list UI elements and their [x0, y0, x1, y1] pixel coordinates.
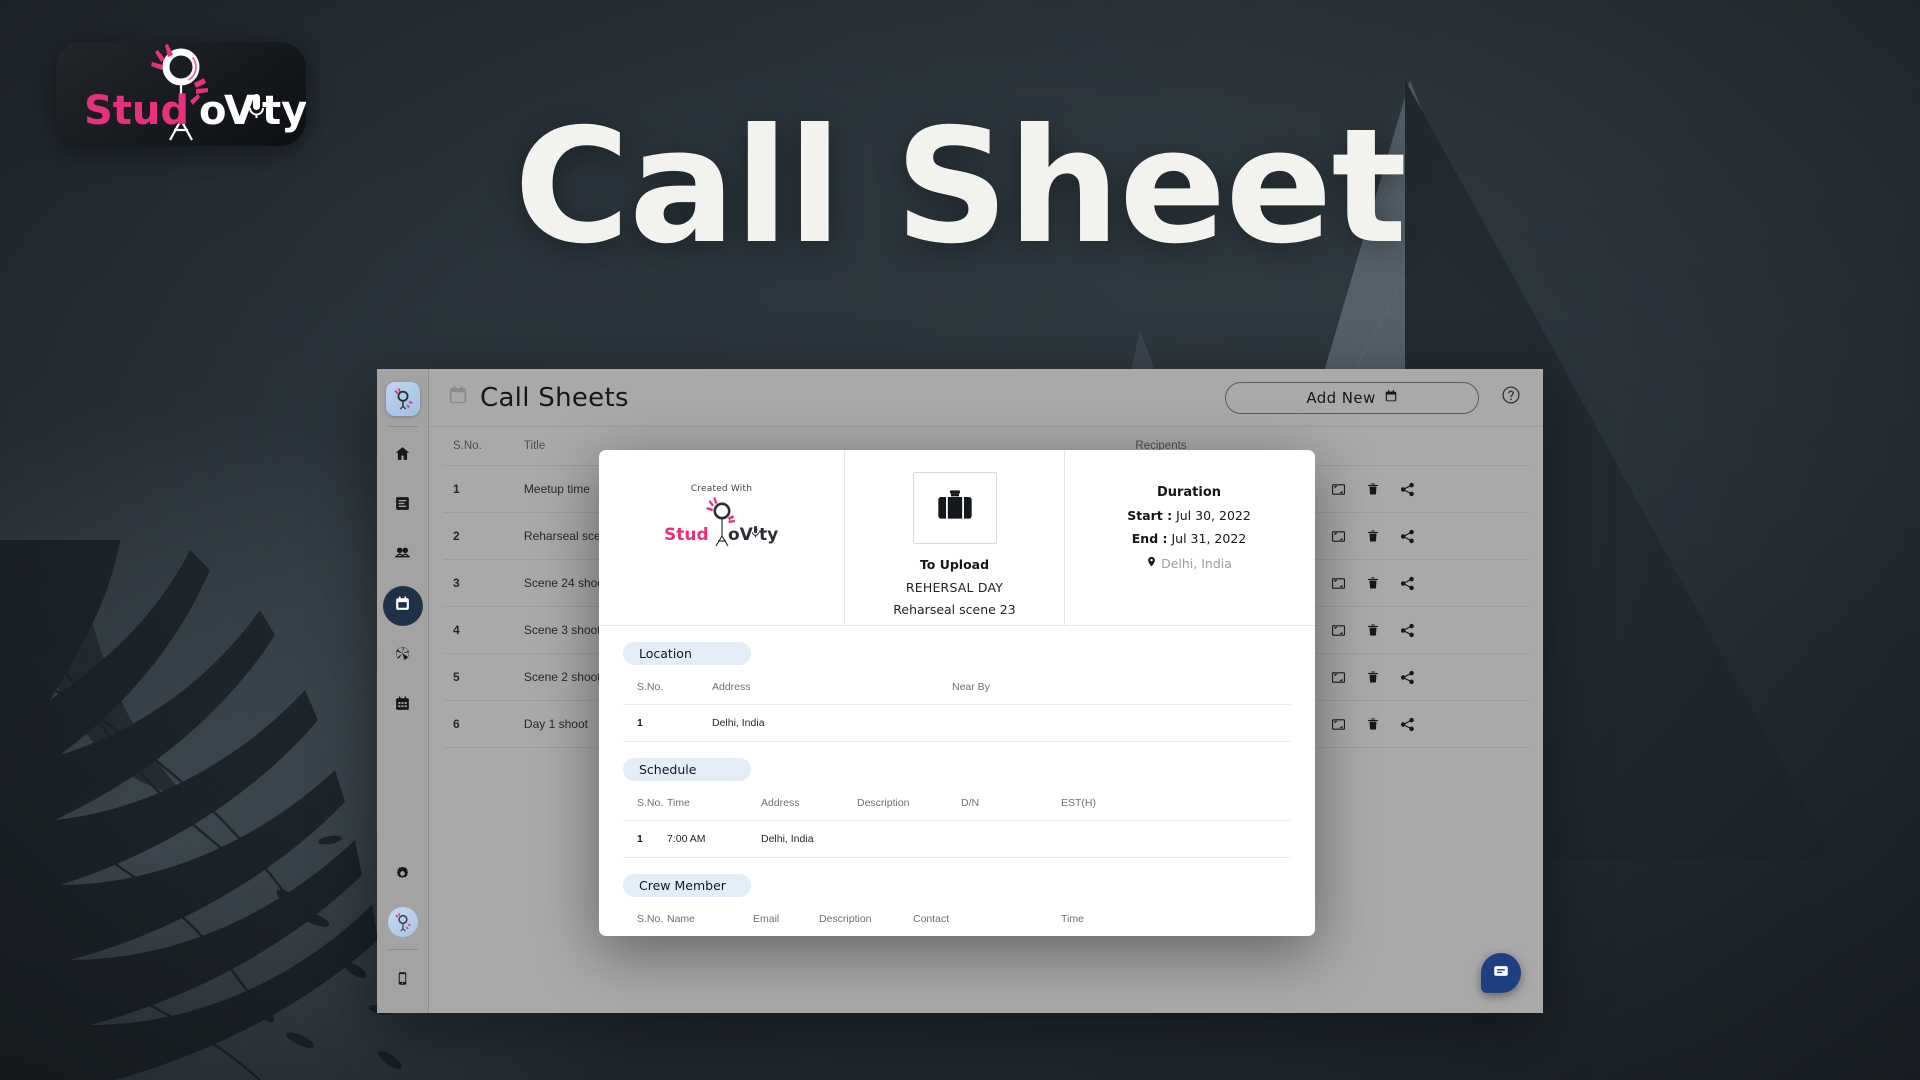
sheet-subtitle: Reharseal scene 23 — [893, 602, 1015, 617]
cell-sno: 2 — [443, 513, 514, 560]
thumb-label: To Upload — [920, 557, 989, 572]
sidebar-item-schedule[interactable] — [383, 686, 423, 726]
crew-col-email: Email — [749, 901, 815, 936]
expand-icon[interactable] — [1331, 623, 1346, 638]
cell-sno: 5 — [443, 654, 514, 701]
sidebar-bottom-divider — [388, 949, 418, 950]
share-icon[interactable] — [1400, 482, 1415, 497]
modal-brand-column: Created With Stud oV — [599, 450, 845, 625]
document-icon — [394, 495, 411, 517]
call-sheet-preview-modal: Created With Stud oV — [599, 450, 1315, 936]
location-table-body: 1 Delhi, India — [623, 705, 1291, 742]
question-circle-icon — [1501, 385, 1521, 410]
location-cell-nearby — [948, 705, 1291, 742]
location-col-sno: S.No. — [623, 669, 708, 705]
column-header-actions — [1321, 427, 1529, 466]
share-icon[interactable] — [1400, 670, 1415, 685]
duration-end-value: Jul 31, 2022 — [1172, 531, 1247, 546]
add-new-label: Add New — [1306, 389, 1375, 407]
expand-icon[interactable] — [1331, 529, 1346, 544]
duration-heading: Duration — [1157, 485, 1221, 500]
row-actions — [1331, 717, 1519, 732]
crew-table-header: S.No. Name Email Description Contact Tim… — [623, 901, 1291, 936]
row-actions — [1331, 670, 1519, 685]
crew-col-contact: Contact — [909, 901, 1057, 936]
schedule-cell-sno: 1 — [623, 821, 663, 858]
location-cell-sno: 1 — [623, 705, 708, 742]
crew-col-time: Time — [1057, 901, 1291, 936]
duration-start-value: Jul 30, 2022 — [1176, 508, 1251, 523]
expand-icon[interactable] — [1331, 576, 1346, 591]
sidebar-item-shoot[interactable] — [383, 636, 423, 676]
column-header-sno: S.No. — [443, 427, 514, 466]
schedule-cell-dn — [957, 821, 1057, 858]
location-table-header: S.No. Address Near By — [623, 669, 1291, 705]
schedule-col-sno: S.No. — [623, 785, 663, 821]
duration-location: Delhi, India — [1146, 555, 1232, 571]
home-icon — [394, 445, 411, 467]
duration-location-text: Delhi, India — [1161, 556, 1232, 571]
add-new-calendar-icon — [1384, 389, 1398, 407]
trash-icon[interactable] — [1366, 576, 1380, 590]
studiovity-logo-icon: Stud oV ty — [662, 496, 782, 552]
trash-icon[interactable] — [1366, 529, 1380, 543]
crew-header-row: S.No. Name Email Description Contact Tim… — [623, 901, 1291, 936]
section-location: Location S.No. Address Near By 1 Delhi, … — [599, 626, 1315, 742]
location-row: 1 Delhi, India — [623, 705, 1291, 742]
sidebar-item-team[interactable] — [383, 536, 423, 576]
crew-col-sno: S.No. — [623, 901, 663, 936]
section-pill-location: Location — [623, 642, 751, 665]
sidebar-logo-icon[interactable] — [386, 382, 420, 416]
hero-title: Call Sheet — [0, 108, 1920, 266]
page-title: Call Sheets — [480, 383, 629, 413]
cell-actions — [1321, 466, 1529, 513]
chat-bubble-icon — [1492, 962, 1510, 985]
modal-duration-column: Duration Start : Jul 30, 2022 End : Jul … — [1065, 450, 1313, 625]
modal-content: Created With Stud oV — [599, 450, 1315, 936]
schedule-col-est: EST(H) — [1057, 785, 1291, 821]
share-icon[interactable] — [1400, 529, 1415, 544]
location-col-address: Address — [708, 669, 948, 705]
trash-icon[interactable] — [1366, 670, 1380, 684]
share-icon[interactable] — [1400, 576, 1415, 591]
share-icon[interactable] — [1400, 623, 1415, 638]
schedule-col-description: Description — [853, 785, 957, 821]
schedule-table: S.No. Time Address Description D/N EST(H… — [623, 785, 1291, 858]
schedule-cell-address: Delhi, India — [757, 821, 853, 858]
cell-actions — [1321, 607, 1529, 654]
gear-icon — [394, 865, 411, 887]
duration-end-label: End : — [1132, 531, 1168, 546]
schedule-cell-est — [1057, 821, 1291, 858]
sidebar-divider — [388, 426, 418, 427]
crew-col-name: Name — [663, 901, 749, 936]
row-actions — [1331, 482, 1519, 497]
schedule-col-address: Address — [757, 785, 853, 821]
map-pin-icon — [1146, 555, 1157, 571]
cell-actions — [1321, 701, 1529, 748]
sidebar-item-mobile-app[interactable] — [383, 961, 423, 1001]
section-crew-member: Crew Member S.No. Name Email Description… — [599, 858, 1315, 936]
row-actions — [1331, 529, 1519, 544]
expand-icon[interactable] — [1331, 670, 1346, 685]
cell-actions — [1321, 560, 1529, 607]
crew-table: S.No. Name Email Description Contact Tim… — [623, 901, 1291, 936]
mobile-icon — [395, 971, 410, 991]
svg-text:ty: ty — [759, 525, 778, 545]
cell-actions — [1321, 513, 1529, 560]
people-icon — [393, 544, 412, 568]
trash-icon[interactable] — [1366, 623, 1380, 637]
sheet-title: REHERSAL DAY — [906, 580, 1003, 595]
schedule-cell-time: 7:00 AM — [663, 821, 757, 858]
trash-icon[interactable] — [1366, 717, 1380, 731]
schedule-row: 1 7:00 AM Delhi, India — [623, 821, 1291, 858]
cell-sno: 1 — [443, 466, 514, 513]
sidebar-profile-avatar[interactable] — [388, 907, 418, 937]
sidebar-item-documents[interactable] — [383, 486, 423, 526]
trash-icon[interactable] — [1366, 482, 1380, 496]
location-table: S.No. Address Near By 1 Delhi, India — [623, 669, 1291, 742]
modal-thumb-column: To Upload REHERSAL DAY Reharseal scene 2… — [845, 450, 1065, 625]
sidebar-item-call-sheets[interactable] — [383, 586, 423, 626]
location-col-nearby: Near By — [948, 669, 1291, 705]
sidebar — [377, 369, 429, 1013]
add-new-button[interactable]: Add New — [1225, 382, 1479, 414]
duration-start-label: Start : — [1127, 508, 1172, 523]
section-pill-crew-member: Crew Member — [623, 874, 751, 897]
section-schedule: Schedule S.No. Time Address Description … — [599, 742, 1315, 858]
schedule-header-row: S.No. Time Address Description D/N EST(H… — [623, 785, 1291, 821]
sidebar-item-home[interactable] — [383, 436, 423, 476]
duration-start: Start : Jul 30, 2022 — [1127, 508, 1251, 523]
topbar: Call Sheets Add New — [429, 369, 1543, 427]
expand-icon[interactable] — [1331, 482, 1346, 497]
page-title-group: Call Sheets — [447, 383, 629, 413]
svg-text:Stud: Stud — [664, 525, 709, 545]
cell-sno: 4 — [443, 607, 514, 654]
calendar-icon — [394, 595, 411, 617]
aperture-icon — [394, 645, 411, 667]
schedule-col-dn: D/N — [957, 785, 1057, 821]
expand-icon[interactable] — [1331, 717, 1346, 732]
duration-end: End : Jul 31, 2022 — [1132, 531, 1246, 546]
crew-col-description: Description — [815, 901, 909, 936]
help-button[interactable] — [1501, 385, 1521, 410]
svg-text:oV: oV — [728, 525, 754, 545]
page-title-calendar-icon — [447, 384, 469, 411]
share-icon[interactable] — [1400, 717, 1415, 732]
row-actions — [1331, 576, 1519, 591]
location-header-row: S.No. Address Near By — [623, 669, 1291, 705]
schedule-cell-description — [853, 821, 957, 858]
cell-sno: 6 — [443, 701, 514, 748]
row-actions — [1331, 623, 1519, 638]
cell-actions — [1321, 654, 1529, 701]
created-with-label: Created With — [691, 484, 752, 494]
schedule-table-body: 1 7:00 AM Delhi, India — [623, 821, 1291, 858]
modal-header: Created With Stud oV — [599, 450, 1315, 626]
schedule-col-time: Time — [663, 785, 757, 821]
chat-support-button[interactable] — [1481, 953, 1521, 993]
briefcase-icon — [933, 486, 977, 531]
calendar-month-icon — [394, 695, 411, 717]
location-cell-address: Delhi, India — [708, 705, 948, 742]
thumbnail-placeholder — [913, 472, 997, 544]
schedule-table-header: S.No. Time Address Description D/N EST(H… — [623, 785, 1291, 821]
cell-sno: 3 — [443, 560, 514, 607]
section-pill-schedule: Schedule — [623, 758, 751, 781]
sidebar-item-settings[interactable] — [383, 856, 423, 896]
